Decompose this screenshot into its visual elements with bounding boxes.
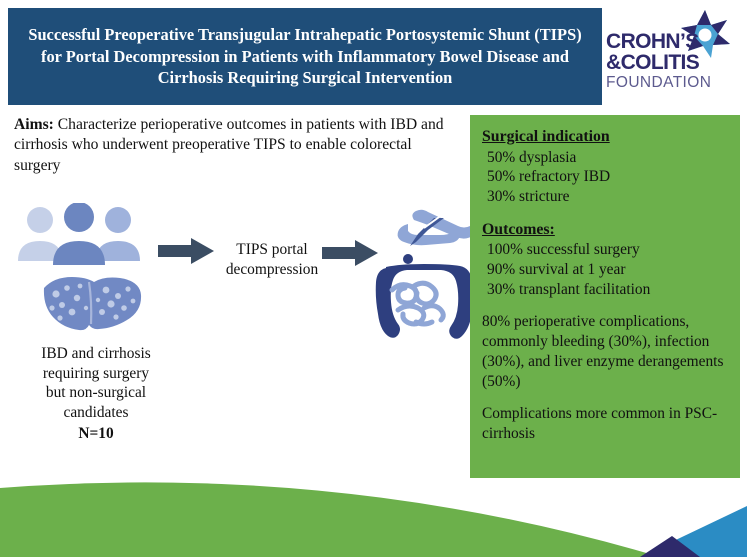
cohort-caption: IBD and cirrhosis requiring surgery but … xyxy=(6,344,186,444)
spacer xyxy=(482,391,730,404)
outcomes-heading: Outcomes: xyxy=(482,220,730,241)
cohort-caption-line-3: but non-surgical xyxy=(6,383,186,403)
logo-line-3: FOUNDATION xyxy=(606,73,738,92)
spacer xyxy=(482,299,730,312)
cohort-caption-line-2: requiring surgery xyxy=(6,364,186,384)
outcomes-item: 90% survival at 1 year xyxy=(482,260,730,280)
patients-group-icon xyxy=(14,203,144,268)
cohort-caption-line-4: candidates xyxy=(6,403,186,423)
aims-paragraph: Aims: Characterize perioperative outcome… xyxy=(14,115,460,176)
psc-note-text: Complications more common in PSC-cirrhos… xyxy=(482,404,730,443)
intestines-icon xyxy=(372,252,476,340)
swoosh-green-arc xyxy=(0,482,660,557)
tips-step-label-line2: decompression xyxy=(212,260,332,280)
surgical-indication-heading: Surgical indication xyxy=(482,127,730,148)
surgical-indication-item: 30% stricture xyxy=(482,187,730,207)
cirrhotic-liver-icon xyxy=(36,272,144,334)
cohort-sample-size: N=10 xyxy=(6,424,186,444)
logo-wordmark: CROHN’S &COLITIS FOUNDATION xyxy=(606,32,738,93)
outcomes-item: 100% successful surgery xyxy=(482,240,730,260)
right-arrow-icon-2 xyxy=(322,240,378,266)
aims-text: Characterize perioperative outcomes in p… xyxy=(14,116,444,174)
complications-text: 80% perioperative complications, commonl… xyxy=(482,312,730,391)
right-arrow-icon xyxy=(158,238,214,264)
surgical-indication-item: 50% refractory IBD xyxy=(482,167,730,187)
logo-line-2: &COLITIS xyxy=(606,53,738,74)
hand-with-scalpel-icon xyxy=(378,198,474,260)
tips-step-label: TIPS portal decompression xyxy=(212,240,332,279)
crohns-colitis-foundation-logo: CROHN’S &COLITIS FOUNDATION xyxy=(604,6,744,106)
results-panel: Surgical indication 50% dysplasia 50% re… xyxy=(470,115,740,478)
cohort-caption-line-1: IBD and cirrhosis xyxy=(6,344,186,364)
page-title: Successful Preoperative Transjugular Int… xyxy=(8,24,602,89)
outcomes-item: 30% transplant facilitation xyxy=(482,280,730,300)
tips-step-label-line1: TIPS portal xyxy=(212,240,332,260)
decorative-swoosh xyxy=(0,470,747,557)
title-banner: Successful Preoperative Transjugular Int… xyxy=(8,8,602,105)
aims-label: Aims: xyxy=(14,116,54,133)
spacer xyxy=(482,207,730,220)
surgical-indication-item: 50% dysplasia xyxy=(482,148,730,168)
logo-line-1: CROHN’S xyxy=(606,32,738,53)
